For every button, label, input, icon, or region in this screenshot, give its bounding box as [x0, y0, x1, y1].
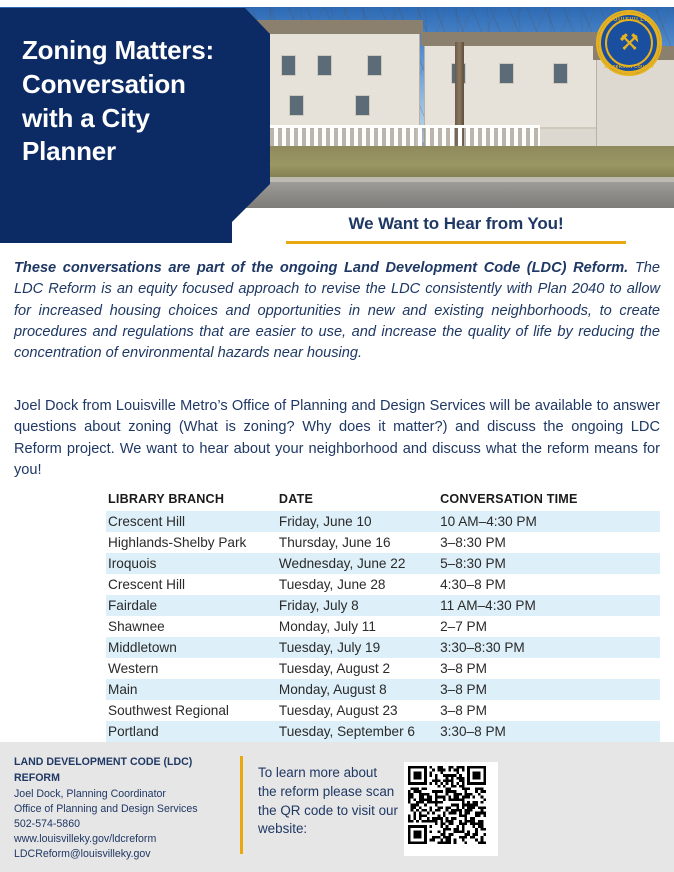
- table-row: Highlands-Shelby ParkThursday, June 163–…: [106, 532, 660, 553]
- table-head: LIBRARY BRANCH DATE CONVERSATION TIME: [106, 490, 660, 511]
- intro-paragraph: These conversations are part of the ongo…: [14, 258, 660, 364]
- cell-branch: Iroquois: [106, 553, 277, 574]
- cell-date: Friday, July 8: [277, 595, 438, 616]
- table-row: Crescent HillTuesday, June 284:30–8 PM: [106, 574, 660, 595]
- cell-time: 3–8 PM: [438, 679, 660, 700]
- cell-date: Tuesday, August 2: [277, 658, 438, 679]
- table-row: PortlandTuesday, September 63:30–8 PM: [106, 721, 660, 742]
- phone-number[interactable]: 502-574-5860: [14, 817, 219, 832]
- cell-time: 5–8:30 PM: [438, 553, 660, 574]
- intro-lead-sentence: These conversations are part of the ongo…: [14, 260, 628, 276]
- qr-code[interactable]: [404, 762, 498, 856]
- table-row: ShawneeMonday, July 112–7 PM: [106, 616, 660, 637]
- roof: [255, 20, 423, 34]
- cell-branch: Main: [106, 679, 277, 700]
- cell-time: 3–8 PM: [438, 700, 660, 721]
- seal-top-text: LOUISVILLE: [598, 17, 660, 23]
- footer-section: LAND DEVELOPMENT CODE (LDC) REFORM Joel …: [0, 742, 674, 872]
- cell-branch: Fairdale: [106, 595, 277, 616]
- cell-time: 10 AM–4:30 PM: [438, 511, 660, 532]
- table-row: FairdaleFriday, July 811 AM–4:30 PM: [106, 595, 660, 616]
- cell-branch: Portland: [106, 721, 277, 742]
- cell-branch: Crescent Hill: [106, 511, 277, 532]
- subhead-text: We Want to Hear from You!: [286, 214, 626, 234]
- cell-branch: Southwest Regional: [106, 700, 277, 721]
- cell-date: Tuesday, September 6: [277, 721, 438, 742]
- table-row: MiddletownTuesday, July 193:30–8:30 PM: [106, 637, 660, 658]
- contact-block: LAND DEVELOPMENT CODE (LDC) REFORM Joel …: [14, 755, 219, 862]
- cell-time: 3:30–8 PM: [438, 721, 660, 742]
- gold-divider: [286, 241, 626, 244]
- flyer-page: Zoning Matters: Conversation with a City…: [0, 0, 674, 872]
- cell-time: 11 AM–4:30 PM: [438, 595, 660, 616]
- subhead-block: We Want to Hear from You!: [286, 214, 626, 244]
- cell-date: Tuesday, July 19: [277, 637, 438, 658]
- roof: [421, 32, 609, 46]
- fleur-de-lis-icon: ⚒: [619, 31, 640, 54]
- table-header-row: LIBRARY BRANCH DATE CONVERSATION TIME: [106, 490, 660, 511]
- louisville-jefferson-county-seal-icon: LOUISVILLE ⚒ JEFFERSON COUNTY: [596, 10, 662, 76]
- cell-time: 3–8:30 PM: [438, 532, 660, 553]
- cell-date: Monday, July 11: [277, 616, 438, 637]
- cell-branch: Middletown: [106, 637, 277, 658]
- cell-date: Wednesday, June 22: [277, 553, 438, 574]
- office-name: Office of Planning and Design Services: [14, 802, 219, 817]
- cell-branch: Highlands-Shelby Park: [106, 532, 277, 553]
- hero-section: Zoning Matters: Conversation with a City…: [0, 0, 674, 243]
- cell-time: 3:30–8:30 PM: [438, 637, 660, 658]
- cell-date: Friday, June 10: [277, 511, 438, 532]
- window: [289, 95, 304, 116]
- org-title-line2: REFORM: [14, 771, 219, 786]
- cell-date: Tuesday, June 28: [277, 574, 438, 595]
- website-link[interactable]: www.louisvilleky.gov/ldcreform: [14, 832, 219, 847]
- column-header-date: DATE: [277, 490, 438, 511]
- window: [553, 63, 568, 84]
- body-paragraph: Joel Dock from Louisville Metro’s Office…: [14, 396, 660, 481]
- schedule-table: LIBRARY BRANCH DATE CONVERSATION TIME Cr…: [106, 490, 660, 742]
- column-header-branch: LIBRARY BRANCH: [106, 490, 277, 511]
- table-row: MainMonday, August 83–8 PM: [106, 679, 660, 700]
- contact-name: Joel Dock, Planning Coordinator: [14, 787, 219, 802]
- window: [317, 55, 332, 76]
- cell-date: Monday, August 8: [277, 679, 438, 700]
- qr-call-to-action: To learn more about the reform please sc…: [258, 764, 398, 839]
- cell-date: Thursday, June 16: [277, 532, 438, 553]
- table-row: WesternTuesday, August 23–8 PM: [106, 658, 660, 679]
- cell-time: 4:30–8 PM: [438, 574, 660, 595]
- page-title: Zoning Matters: Conversation with a City…: [22, 34, 237, 169]
- table-body: Crescent HillFriday, June 1010 AM–4:30 P…: [106, 511, 660, 742]
- cell-time: 3–8 PM: [438, 658, 660, 679]
- table-row: Southwest RegionalTuesday, August 233–8 …: [106, 700, 660, 721]
- cell-date: Tuesday, August 23: [277, 700, 438, 721]
- cell-branch: Shawnee: [106, 616, 277, 637]
- email-link[interactable]: LDCReform@louisvilleky.gov: [14, 847, 219, 862]
- cell-time: 2–7 PM: [438, 616, 660, 637]
- window: [367, 55, 382, 76]
- seal-bottom-text: JEFFERSON COUNTY: [598, 64, 660, 69]
- footer-vertical-divider: [240, 756, 243, 854]
- org-title-line1: LAND DEVELOPMENT CODE (LDC): [14, 755, 219, 770]
- window: [499, 63, 514, 84]
- table-row: IroquoisWednesday, June 225–8:30 PM: [106, 553, 660, 574]
- window: [281, 55, 296, 76]
- window: [355, 95, 370, 116]
- cell-branch: Western: [106, 658, 277, 679]
- cell-branch: Crescent Hill: [106, 574, 277, 595]
- table-row: Crescent HillFriday, June 1010 AM–4:30 P…: [106, 511, 660, 532]
- column-header-time: CONVERSATION TIME: [438, 490, 660, 511]
